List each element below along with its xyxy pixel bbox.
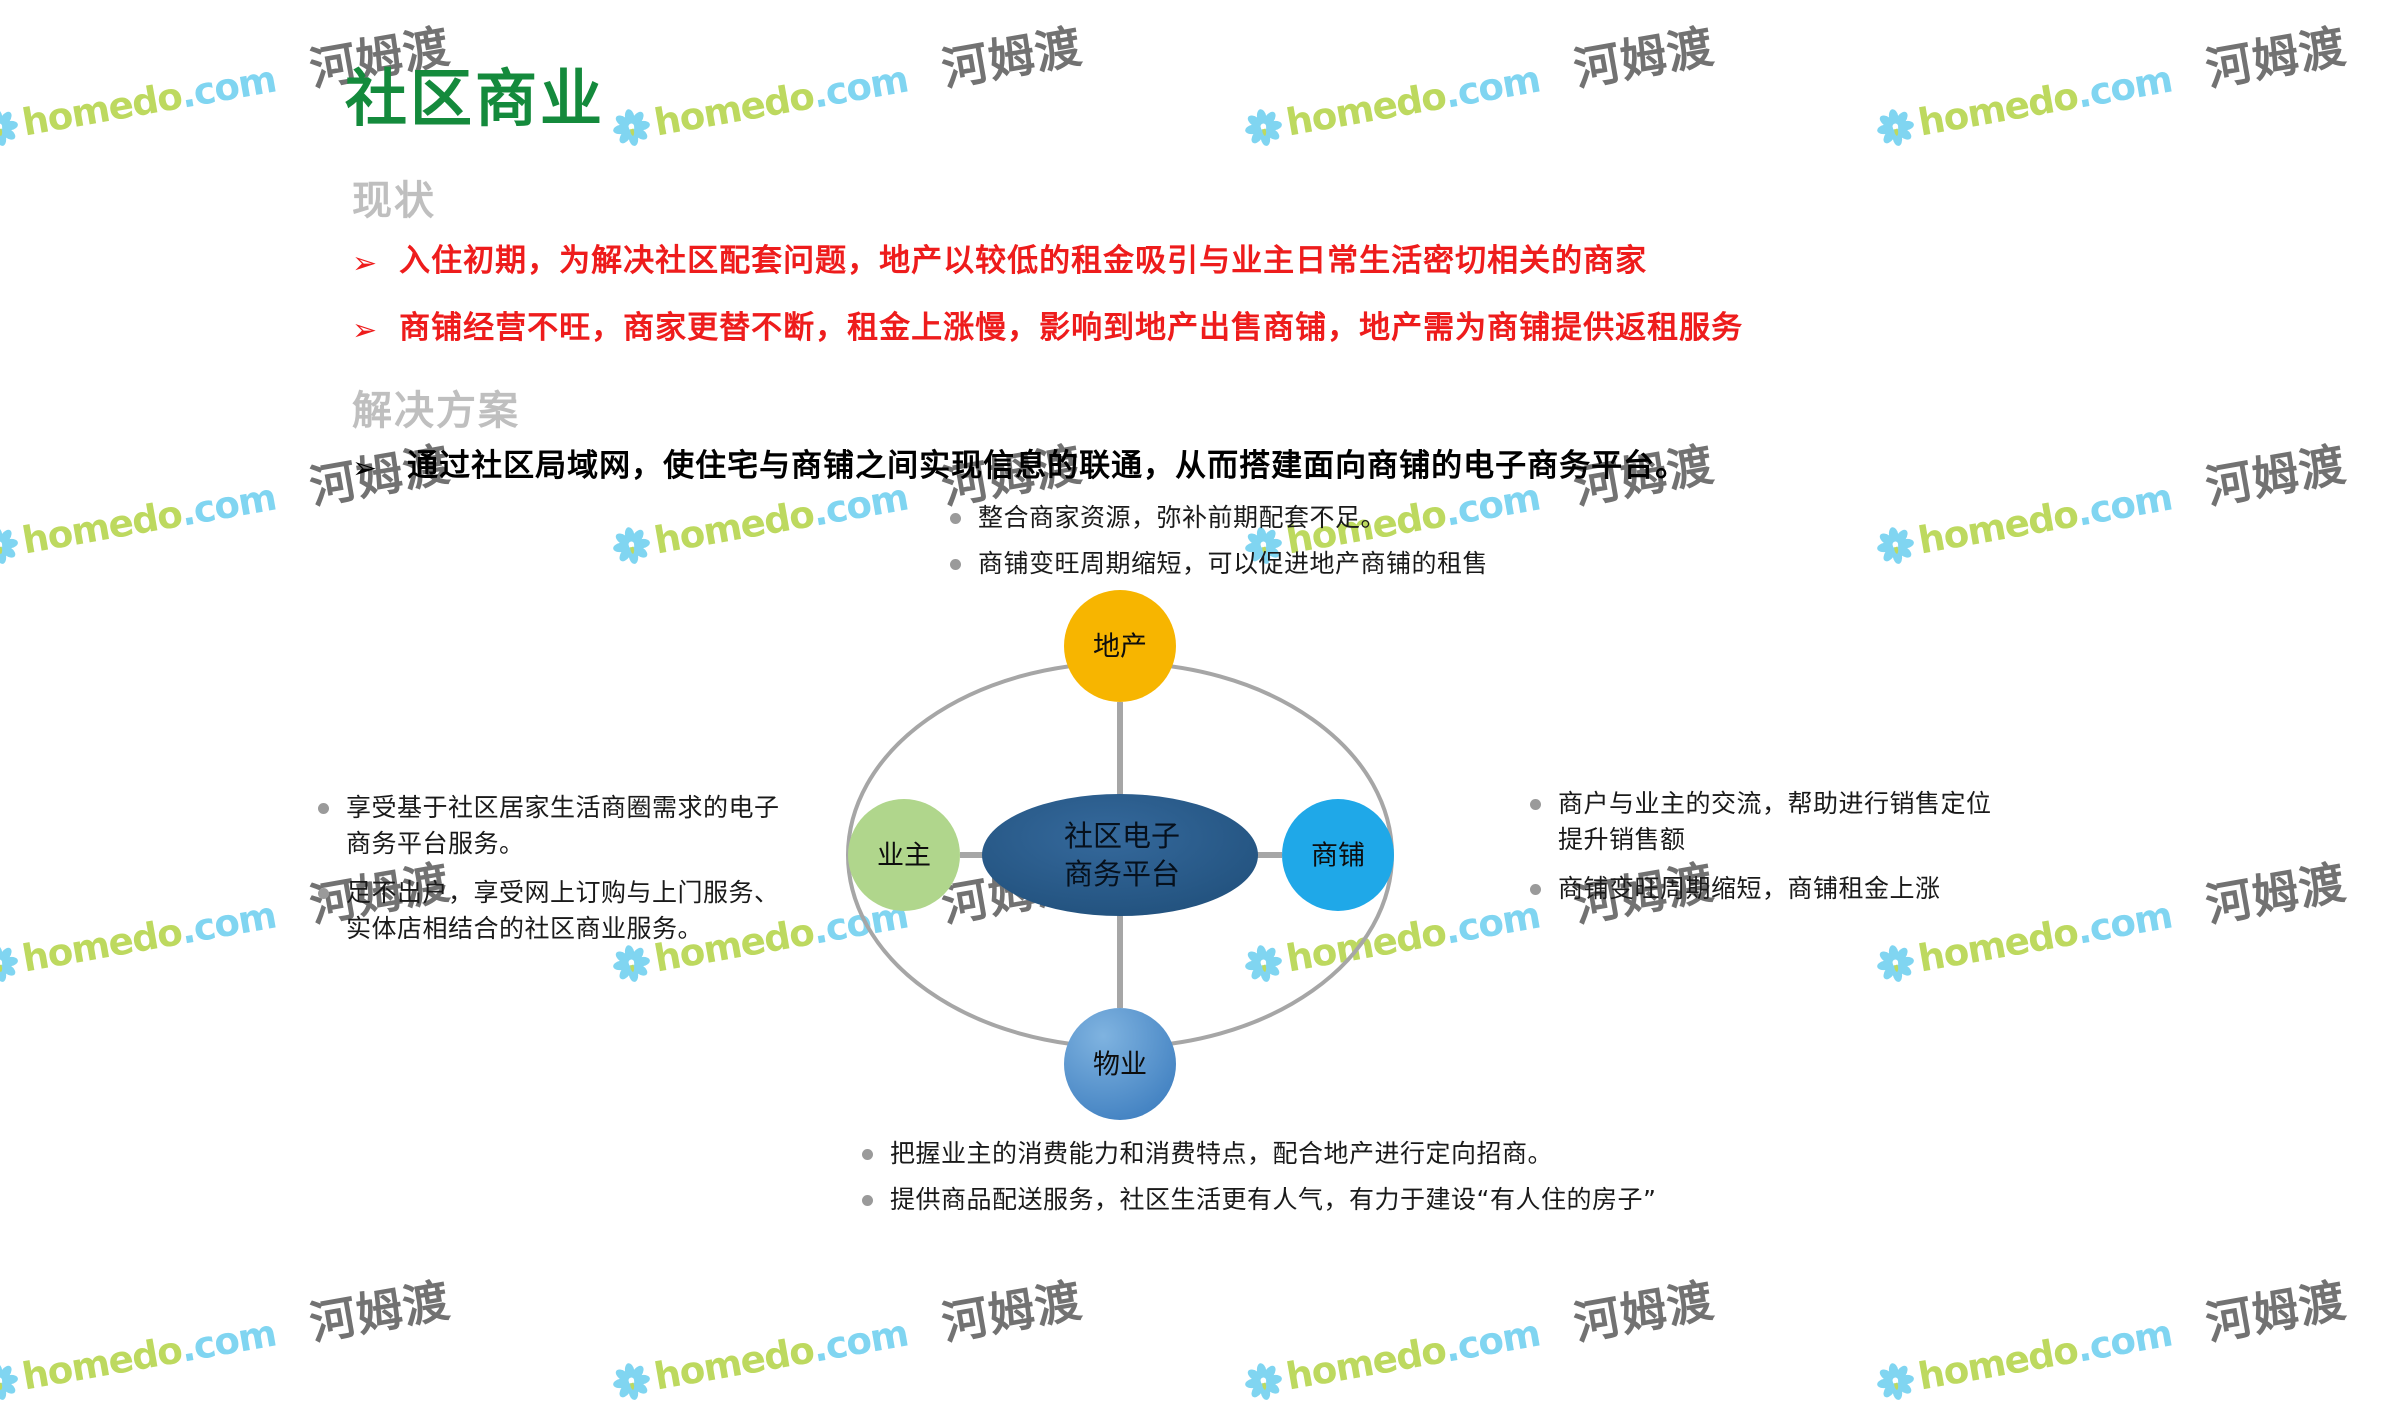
benefit-right-1: 商铺变旺周期缩短，商铺租金上涨 <box>1558 871 1941 907</box>
benefits-top: 整合商家资源，弥补前期配套不足。 商铺变旺周期缩短，可以促进地产商铺的租售 <box>950 500 1488 591</box>
benefit-right-0: 商户与业主的交流，帮助进行销售定位提升销售额 <box>1558 786 2000 857</box>
node-yezhu-label: 业主 <box>877 841 931 872</box>
current-item-0-text: 入住初期，为解决社区配套问题，地产以较低的租金吸引与业主日常生活密切相关的商家 <box>399 243 1647 280</box>
center-node-label-line1: 社区电子 <box>1064 819 1180 853</box>
list-item: 整合商家资源，弥补前期配套不足。 <box>950 500 1488 536</box>
benefit-left-1: 足不出户，享受网上订购与上门服务、实体店相结合的社区商业服务。 <box>346 875 798 946</box>
node-wuye-label: 物业 <box>1093 1050 1147 1081</box>
list-item: 商户与业主的交流，帮助进行销售定位提升销售额 <box>1530 786 2000 857</box>
bullet-dot-icon <box>950 559 961 570</box>
page-title: 社区商业 <box>345 48 605 138</box>
current-item-1: ➢ 商铺经营不旺，商家更替不断，租金上涨慢，影响到地产出售商铺，地产需为商铺提供… <box>352 310 1743 347</box>
center-node-shape <box>982 794 1258 916</box>
list-item: 商铺变旺周期缩短，可以促进地产商铺的租售 <box>950 546 1488 582</box>
node-shangpu-label: 商铺 <box>1311 841 1365 872</box>
center-node-label-line2: 商务平台 <box>1064 857 1180 891</box>
bullet-dot-icon <box>1530 884 1541 895</box>
solution-item-0-text: 通过社区局域网，使住宅与商铺之间实现信息的联通，从而搭建面向商铺的电子商务平台。 <box>407 448 1687 485</box>
solution-item-0: ➢ 通过社区局域网，使住宅与商铺之间实现信息的联通，从而搭建面向商铺的电子商务平… <box>352 448 1687 485</box>
benefits-bottom: 把握业主的消费能力和消费特点，配合地产进行定向招商。 提供商品配送服务，社区生活… <box>862 1136 1656 1227</box>
bullet-dot-icon <box>862 1149 873 1160</box>
bullet-dot-icon <box>1530 799 1541 810</box>
arrow-bullet-icon: ➢ <box>352 310 377 346</box>
current-item-0: ➢ 入住初期，为解决社区配套问题，地产以较低的租金吸引与业主日常生活密切相关的商… <box>352 243 1647 280</box>
list-item: 享受基于社区居家生活商圈需求的电子商务平台服务。 <box>318 790 798 861</box>
arrow-bullet-icon: ➢ <box>352 243 377 279</box>
hub-and-spoke-diagram: 社区电子 商务平台 地产 商铺 物业 业主 <box>760 590 1480 1120</box>
benefits-left: 享受基于社区居家生活商圈需求的电子商务平台服务。 足不出户，享受网上订购与上门服… <box>318 790 798 960</box>
flower-icon <box>1241 1359 1287 1405</box>
list-item: 提供商品配送服务，社区生活更有人气，有力于建设“有人住的房子” <box>862 1182 1656 1218</box>
slide-content: 社区商业 现状 ➢ 入住初期，为解决社区配套问题，地产以较低的租金吸引与业主日常… <box>0 0 2400 1350</box>
current-item-1-text: 商铺经营不旺，商家更替不断，租金上涨慢，影响到地产出售商铺，地产需为商铺提供返租… <box>399 310 1743 347</box>
benefit-left-0: 享受基于社区居家生活商圈需求的电子商务平台服务。 <box>346 790 798 861</box>
benefits-right: 商户与业主的交流，帮助进行销售定位提升销售额 商铺变旺周期缩短，商铺租金上涨 <box>1530 786 2000 921</box>
section-heading-solution: 解决方案 <box>352 378 520 436</box>
list-item: 商铺变旺周期缩短，商铺租金上涨 <box>1530 871 2000 907</box>
bullet-dot-icon <box>862 1195 873 1206</box>
benefit-bottom-0: 把握业主的消费能力和消费特点，配合地产进行定向招商。 <box>890 1136 1553 1172</box>
flower-icon <box>0 1359 23 1405</box>
benefit-top-1: 商铺变旺周期缩短，可以促进地产商铺的租售 <box>978 546 1488 582</box>
bullet-dot-icon <box>318 803 329 814</box>
node-dichan-label: 地产 <box>1093 632 1147 663</box>
bullet-dot-icon <box>950 513 961 524</box>
list-item: 足不出户，享受网上订购与上门服务、实体店相结合的社区商业服务。 <box>318 875 798 946</box>
list-item: 把握业主的消费能力和消费特点，配合地产进行定向招商。 <box>862 1136 1656 1172</box>
flower-icon <box>1873 1359 1919 1405</box>
benefit-bottom-1: 提供商品配送服务，社区生活更有人气，有力于建设“有人住的房子” <box>890 1182 1656 1218</box>
bullet-dot-icon <box>318 888 329 899</box>
section-heading-current: 现状 <box>352 168 436 226</box>
arrow-bullet-icon: ➢ <box>352 448 377 484</box>
flower-icon <box>609 1359 655 1405</box>
benefit-top-0: 整合商家资源，弥补前期配套不足。 <box>978 500 1386 536</box>
